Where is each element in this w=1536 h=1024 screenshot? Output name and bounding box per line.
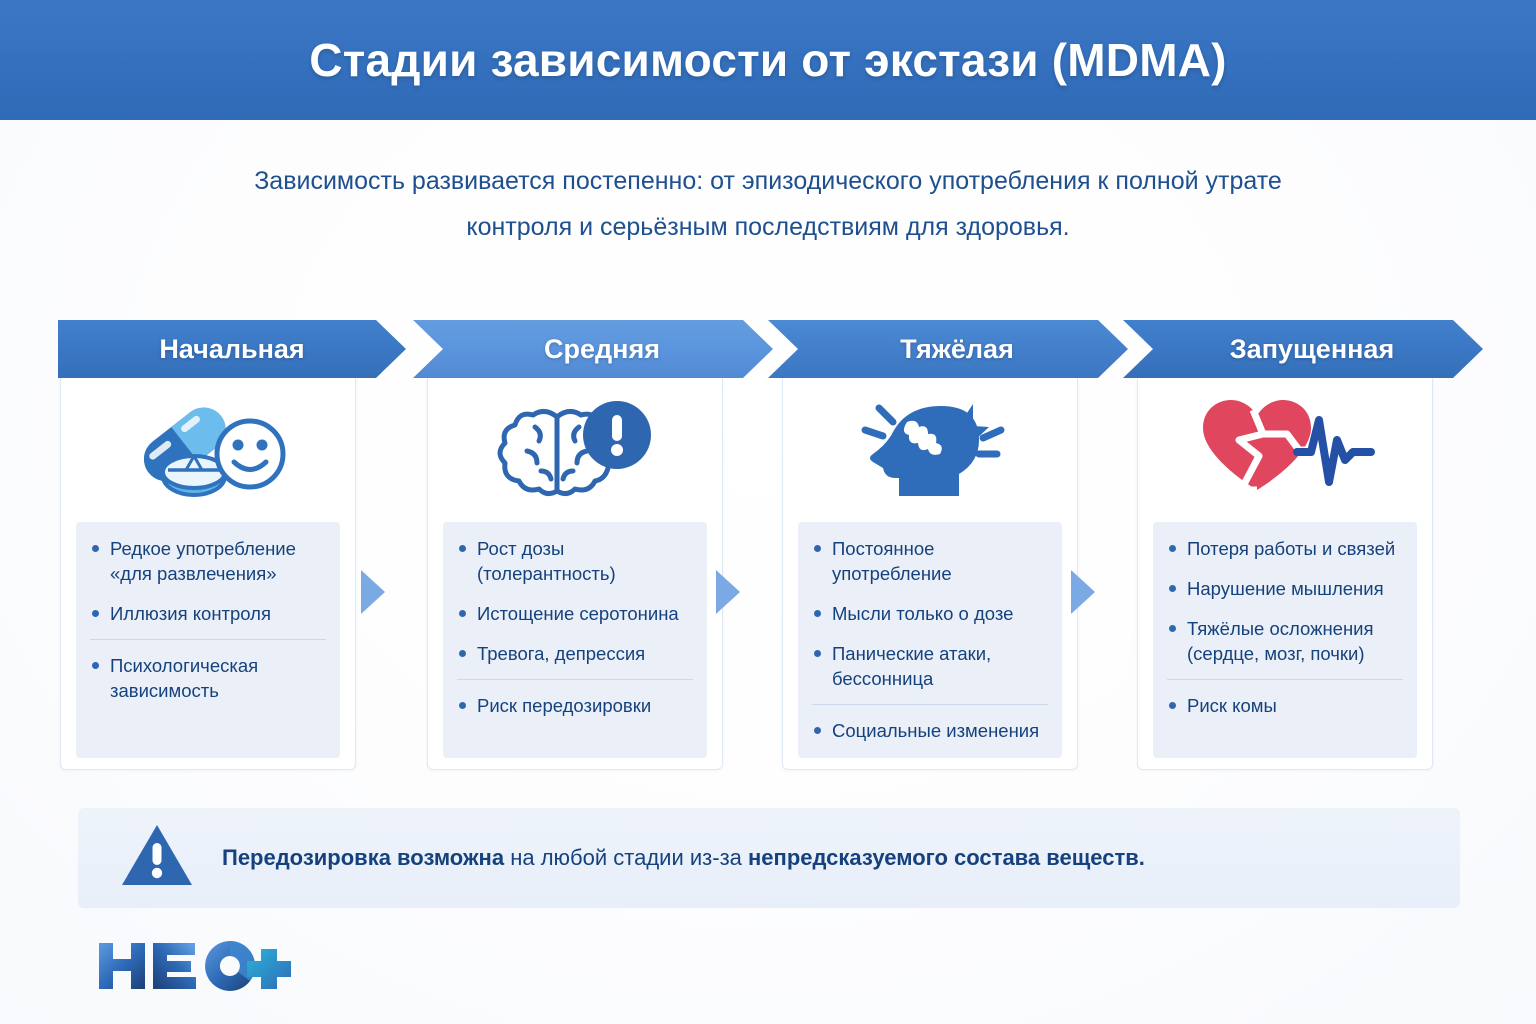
warning-triangle-icon (120, 823, 194, 894)
warning-bold-end: непредсказуемого состава веществ. (748, 845, 1145, 870)
list-item: Риск передозировки (457, 679, 693, 718)
bullet-text: Рост дозы (толерантность) (477, 538, 616, 584)
stage-card-3[interactable]: Тяжёлая Постоянное (768, 320, 1123, 770)
stage-label-1: Начальная (159, 334, 304, 365)
list-item: Тревога, депрессия (457, 641, 693, 666)
subtitle-line-2: контроля и серьёзным последствиям для зд… (466, 213, 1069, 241)
neo-plus-logo-icon (95, 935, 295, 997)
warning-banner: Передозировка возможна на любой стадии и… (78, 808, 1460, 908)
pills-smiley-icon (124, 394, 292, 502)
stage-bullets-panel-1: Редкое употребление «для развлечения» Ил… (76, 522, 340, 758)
bullet-text: Мысли только о дозе (832, 603, 1013, 624)
list-item: Тяжёлые осложнения (сердце, мозг, почки) (1167, 616, 1403, 666)
stage-connector-arrow-1 (361, 570, 385, 614)
list-item: Рост дозы (толерантность) (457, 536, 693, 586)
stage-icon-1 (60, 378, 356, 518)
list-item: Социальные изменения (812, 704, 1048, 743)
bullet-text: Истощение серотонина (477, 603, 679, 624)
warning-middle: на любой стадии из-за (504, 845, 748, 870)
list-item: Мысли только о дозе (812, 601, 1048, 626)
subtitle: Зависимость развивается постепенно: от э… (168, 158, 1368, 250)
stage-bullet-list-4: Потеря работы и связей Нарушение мышлени… (1167, 536, 1403, 718)
list-item: Постоянное употребление (812, 536, 1048, 586)
list-item: Психологическая зависимость (90, 639, 326, 703)
title-banner: Стадии зависимости от экстази (MDMA) (0, 0, 1536, 120)
stage-bullets-panel-3: Постоянное употребление Мысли только о д… (798, 522, 1062, 758)
brand-logo[interactable]: НЕО+ (95, 935, 295, 997)
stage-connector-arrow-2 (716, 570, 740, 614)
stage-bullets-panel-2: Рост дозы (толерантность) Истощение серо… (443, 522, 707, 758)
stage-connector-arrow-3 (1071, 570, 1095, 614)
broken-heart-ecg-icon (1195, 394, 1375, 502)
page-title: Стадии зависимости от экстази (MDMA) (309, 33, 1226, 87)
stage-label-3: Тяжёлая (900, 334, 1014, 365)
stage-label-2: Средняя (544, 334, 660, 365)
stage-bullets-panel-4: Потеря работы и связей Нарушение мышлени… (1153, 522, 1417, 758)
list-item: Иллюзия контроля (90, 601, 326, 626)
stages-row: Начальная (58, 320, 1478, 770)
stage-header-2[interactable]: Средняя (413, 320, 773, 378)
warning-bold-start: Передозировка возможна (222, 845, 504, 870)
bullet-text: Потеря работы и связей (1187, 538, 1395, 559)
list-item: Панические атаки, бессонница (812, 641, 1048, 691)
bullet-text: Постоянное употребление (832, 538, 952, 584)
bullet-text: Тяжёлые осложнения (сердце, мозг, почки) (1187, 618, 1374, 664)
brain-alert-icon (495, 395, 655, 501)
bullet-text: Риск передозировки (477, 695, 651, 716)
bullet-text: Социальные изменения (832, 720, 1039, 741)
bullet-text: Редкое употребление «для развлечения» (110, 538, 296, 584)
bullet-text: Тревога, депрессия (477, 643, 645, 664)
stage-header-4[interactable]: Запущенная (1123, 320, 1483, 378)
bullet-text: Иллюзия контроля (110, 603, 271, 624)
stage-card-1[interactable]: Начальная (58, 320, 413, 770)
list-item: Нарушение мышления (1167, 576, 1403, 601)
subtitle-line-1: Зависимость развивается постепенно: от э… (254, 167, 1282, 195)
stage-label-4: Запущенная (1230, 334, 1394, 365)
stage-header-1[interactable]: Начальная (58, 320, 406, 378)
stage-header-3[interactable]: Тяжёлая (768, 320, 1128, 378)
list-item: Потеря работы и связей (1167, 536, 1403, 561)
stage-icon-3 (782, 378, 1078, 518)
head-puzzle-lightning-icon (845, 392, 1015, 504)
list-item: Истощение серотонина (457, 601, 693, 626)
warning-text: Передозировка возможна на любой стадии и… (222, 843, 1145, 873)
list-item: Редкое употребление «для развлечения» (90, 536, 326, 586)
stage-icon-4 (1137, 378, 1433, 518)
stage-bullet-list-2: Рост дозы (толерантность) Истощение серо… (457, 536, 693, 718)
list-item: Риск комы (1167, 679, 1403, 718)
bullet-text: Нарушение мышления (1187, 578, 1384, 599)
bullet-text: Риск комы (1187, 695, 1277, 716)
bullet-text: Панические атаки, бессонница (832, 643, 991, 689)
stage-card-4[interactable]: Запущенная Потеря работы и связей Наруше… (1123, 320, 1478, 770)
bullet-text: Психологическая зависимость (110, 655, 258, 701)
stage-icon-2 (427, 378, 723, 518)
stage-bullet-list-1: Редкое употребление «для развлечения» Ил… (90, 536, 326, 703)
infographic-page: Стадии зависимости от экстази (MDMA) Зав… (0, 0, 1536, 1024)
stage-bullet-list-3: Постоянное употребление Мысли только о д… (812, 536, 1048, 743)
stage-card-2[interactable]: Средняя (413, 320, 768, 770)
